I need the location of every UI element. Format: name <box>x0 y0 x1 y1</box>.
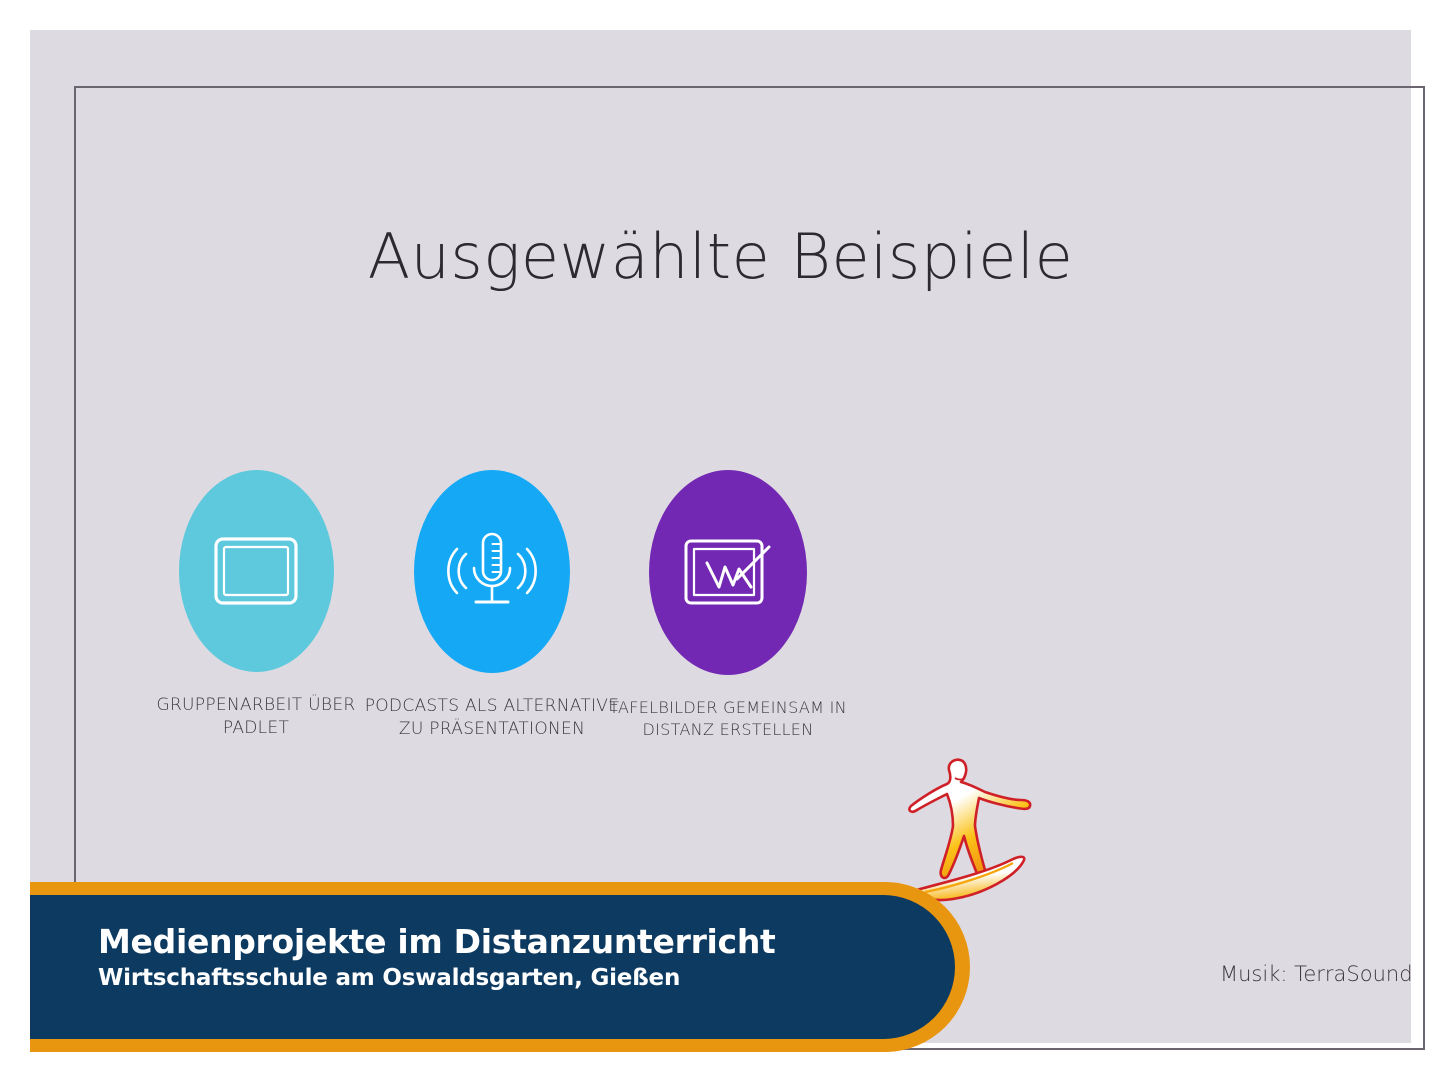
slide-stage: Ausgewählte Beispiele GRUPPENARBEIT ÜBER… <box>0 0 1440 1080</box>
example-caption-padlet: GRUPPENARBEIT ÜBER PADLET <box>126 694 386 740</box>
example-bubble-padlet <box>179 470 334 672</box>
example-item-podcasts[interactable]: PODCASTS ALS ALTERNATIVE ZU PRÄSENTATION… <box>362 470 622 741</box>
page-title: Ausgewählte Beispiele <box>30 220 1411 293</box>
whiteboard-frame-icon <box>212 535 300 607</box>
music-credit: Musik: TerraSound <box>1220 962 1413 986</box>
drawing-tablet-icon <box>681 535 775 611</box>
example-caption-tafelbilder: TAFELBILDER GEMEINSAM IN DISTANZ ERSTELL… <box>598 697 858 740</box>
example-bubble-podcasts <box>414 470 570 673</box>
banner-title: Medienprojekte im Distanzunterricht <box>98 922 918 961</box>
bottom-banner: Medienprojekte im Distanzunterricht Wirt… <box>30 882 970 1052</box>
microphone-icon <box>444 526 540 618</box>
example-item-padlet[interactable]: GRUPPENARBEIT ÜBER PADLET <box>126 470 386 740</box>
example-caption-podcasts: PODCASTS ALS ALTERNATIVE ZU PRÄSENTATION… <box>362 695 622 741</box>
example-bubble-tafelbilder <box>649 470 807 675</box>
banner-subtitle: Wirtschaftsschule am Oswaldsgarten, Gieß… <box>98 965 918 991</box>
slide-canvas: Ausgewählte Beispiele GRUPPENARBEIT ÜBER… <box>30 30 1411 1043</box>
examples-row: GRUPPENARBEIT ÜBER PADLET <box>126 470 916 790</box>
banner-text-group: Medienprojekte im Distanzunterricht Wirt… <box>98 922 918 991</box>
example-item-tafelbilder[interactable]: TAFELBILDER GEMEINSAM IN DISTANZ ERSTELL… <box>598 470 858 740</box>
